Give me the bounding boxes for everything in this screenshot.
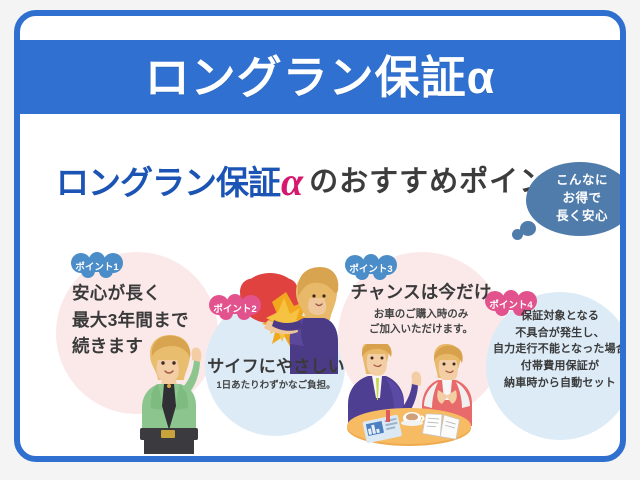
point-4-line-5: 納車時から自動セット: [480, 375, 626, 392]
bubble-line-1: こんなに: [556, 172, 608, 190]
bubble-line-2: お得で: [562, 190, 601, 208]
point-2-subtext: 1日あたりわずかなご負担。: [200, 380, 352, 392]
point-4-line-3: 自力走行不能となった場合: [480, 341, 626, 358]
page-title: ロングラン保証α: [145, 55, 496, 100]
speech-bubble: こんなに お得で 長く安心: [526, 162, 626, 236]
point-1-badge-label: ポイント1: [75, 259, 118, 273]
title-banner: ロングラン保証α: [20, 40, 620, 114]
couple-at-table-illustration: [338, 344, 480, 448]
point-1-badge: ポイント1: [68, 252, 126, 278]
point-3-badge: ポイント3: [342, 254, 400, 280]
point-1-line-3: 続きます: [72, 333, 232, 360]
subtitle-alpha: α: [281, 162, 303, 202]
bubble-line-3: 長く安心: [556, 208, 608, 226]
point-3-heading: チャンスは今だけ: [338, 282, 504, 303]
point-4-line-4: 付帯費用保証が: [480, 358, 626, 375]
speech-bubble-dot: [512, 229, 523, 240]
poster-root: ロングラン保証α ロングラン保証 α のおすすめポイント こんなに お得で 長く…: [0, 0, 640, 480]
point-1-heading: 安心が長く 最大3年間まで 続きます: [72, 280, 232, 360]
point-1-line-1: 安心が長く: [72, 280, 232, 307]
point-1-line-2: 最大3年間まで: [72, 307, 232, 334]
subtitle: ロングラン保証 α のおすすめポイント: [56, 156, 526, 208]
subtitle-brand: ロングラン保証: [56, 166, 280, 199]
point-4-line-1: 保証対象となる: [480, 308, 626, 325]
point-3-badge-label: ポイント3: [349, 261, 392, 275]
point-4-text: 保証対象となる 不具合が発生し、 自力走行不能となった場合 付帯費用保証が 納車…: [480, 308, 626, 392]
point-4-line-2: 不具合が発生し、: [480, 325, 626, 342]
point-2-heading: サイフにやさしい: [200, 357, 352, 377]
poster-frame: ロングラン保証α ロングラン保証 α のおすすめポイント こんなに お得で 長く…: [14, 10, 626, 462]
